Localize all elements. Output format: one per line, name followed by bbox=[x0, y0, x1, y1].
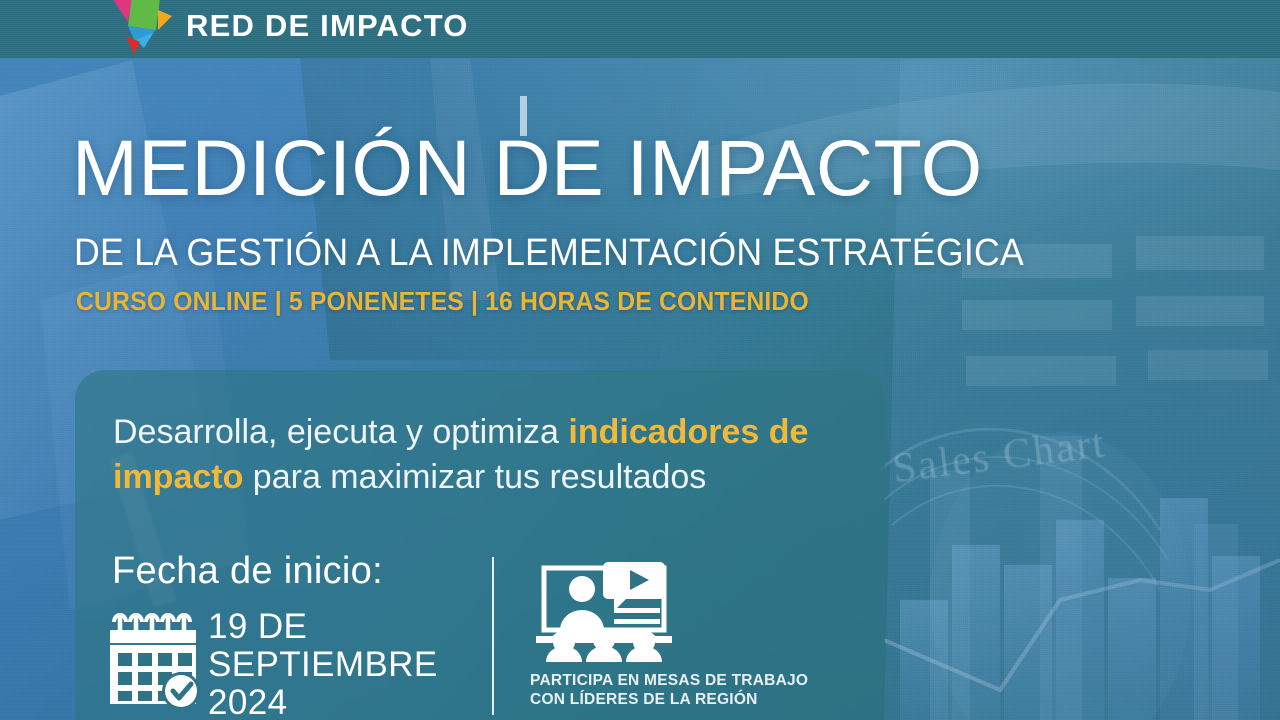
brand-logo[interactable]: RED DE IMPACTO bbox=[110, 0, 469, 54]
section-divider bbox=[492, 557, 494, 715]
lead-suffix: para maximizar tus resultados bbox=[243, 458, 706, 496]
calendar-check-icon bbox=[108, 612, 200, 708]
webinar-audience-icon bbox=[530, 556, 678, 662]
lead-prefix: Desarrolla, ejecuta y optimiza bbox=[113, 413, 568, 451]
promo-banner: Sales Chart RED DE IMPACTO MEDICIÓN DE I… bbox=[0, 0, 1280, 720]
page-subtitle: DE LA GESTIÓN A LA IMPLEMENTACIÓN ESTRAT… bbox=[74, 234, 1024, 272]
brand-wordmark: RED DE IMPACTO bbox=[186, 10, 469, 41]
page-title: MEDICIÓN DE IMPACTO bbox=[72, 128, 983, 207]
start-date-value: 19 DE SEPTIEMBRE 2024 bbox=[208, 608, 438, 720]
start-date-label: Fecha de inicio: bbox=[112, 552, 383, 590]
top-brand-bar: RED DE IMPACTO bbox=[0, 0, 1280, 58]
course-meta-line: CURSO ONLINE | 5 PONENETES | 16 HORAS DE… bbox=[76, 288, 809, 314]
south-america-triangles-logo-icon bbox=[110, 0, 172, 54]
workshops-caption: PARTICIPA EN MESAS DE TRABAJO CON LÍDERE… bbox=[530, 672, 860, 710]
lead-paragraph: Desarrolla, ejecuta y optimiza indicador… bbox=[113, 410, 873, 500]
